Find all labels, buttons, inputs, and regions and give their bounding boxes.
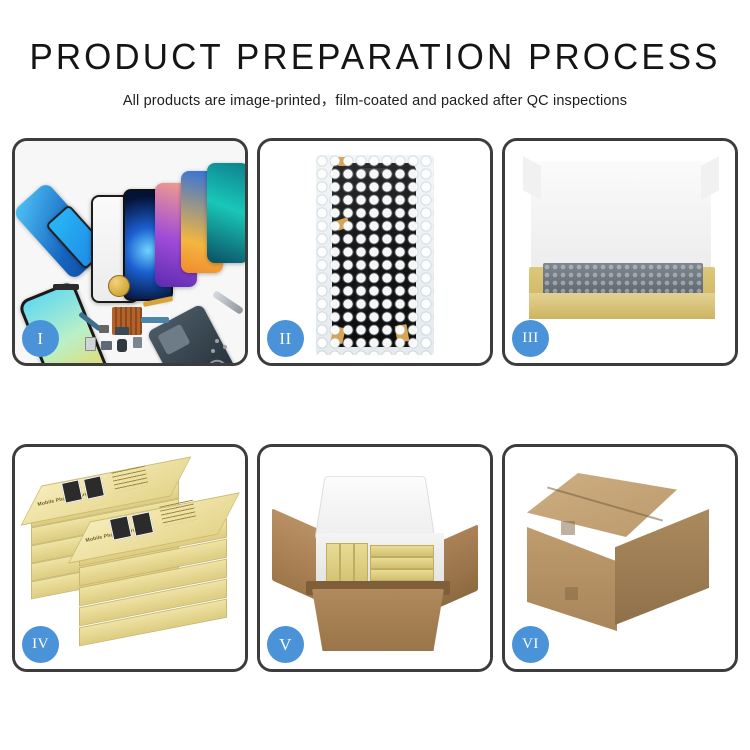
- process-step-1[interactable]: I: [12, 138, 248, 366]
- foam-insert-dark: [543, 263, 703, 297]
- step-number-badge-6: VI: [512, 626, 549, 663]
- component-clip: [99, 325, 109, 333]
- component-camera-module: [117, 339, 127, 352]
- box-lid-white: [531, 161, 711, 273]
- phone-chassis: [146, 303, 241, 363]
- vibration-motor: [108, 275, 130, 297]
- component-connector: [133, 337, 142, 348]
- process-step-4[interactable]: Mobile Phone Spare Parts Mobile Phone Sp…: [12, 444, 248, 672]
- page-header: PRODUCT PREPARATION PROCESS All products…: [0, 0, 750, 110]
- process-step-5[interactable]: V: [257, 444, 493, 672]
- page-title: PRODUCT PREPARATION PROCESS: [11, 38, 739, 76]
- carton-left-face: [527, 527, 617, 631]
- box-tray-front-face: [529, 293, 715, 319]
- repair-tweezers: [212, 290, 244, 315]
- carton-body: [312, 589, 444, 651]
- carton-tab-upper: [561, 521, 575, 535]
- process-step-3[interactable]: III: [502, 138, 738, 366]
- step-number-badge-3: III: [512, 320, 549, 357]
- flex-cable-3: [141, 317, 169, 323]
- page-subtitle: All products are image-printed，film-coat…: [0, 89, 750, 110]
- phone-screen-teal-wallpaper: [207, 163, 245, 263]
- component-sim-tray: [85, 337, 96, 351]
- carton-top-face: [527, 473, 677, 537]
- screw-1: [215, 339, 219, 343]
- process-step-2[interactable]: II: [257, 138, 493, 366]
- step-number-badge-1: I: [22, 320, 59, 357]
- packed-box-horizontal-2: [370, 557, 434, 569]
- bubble-wrap-texture: [316, 155, 434, 355]
- process-steps-grid: I II III: [12, 138, 738, 672]
- packed-box-horizontal-1: [370, 545, 434, 557]
- packed-box-horizontal-3: [370, 569, 434, 581]
- process-step-6[interactable]: VI: [502, 444, 738, 672]
- component-bracket: [101, 341, 112, 350]
- step-number-badge-4: IV: [22, 626, 59, 663]
- earpiece-speaker: [53, 284, 79, 290]
- screw-3: [211, 349, 215, 353]
- step-number-badge-5: V: [267, 626, 304, 663]
- screw-2: [223, 345, 227, 349]
- component-shield: [115, 327, 129, 335]
- step-number-badge-2: II: [267, 320, 304, 357]
- foam-lid-open: [314, 476, 435, 540]
- carton-tab-lower: [565, 587, 578, 600]
